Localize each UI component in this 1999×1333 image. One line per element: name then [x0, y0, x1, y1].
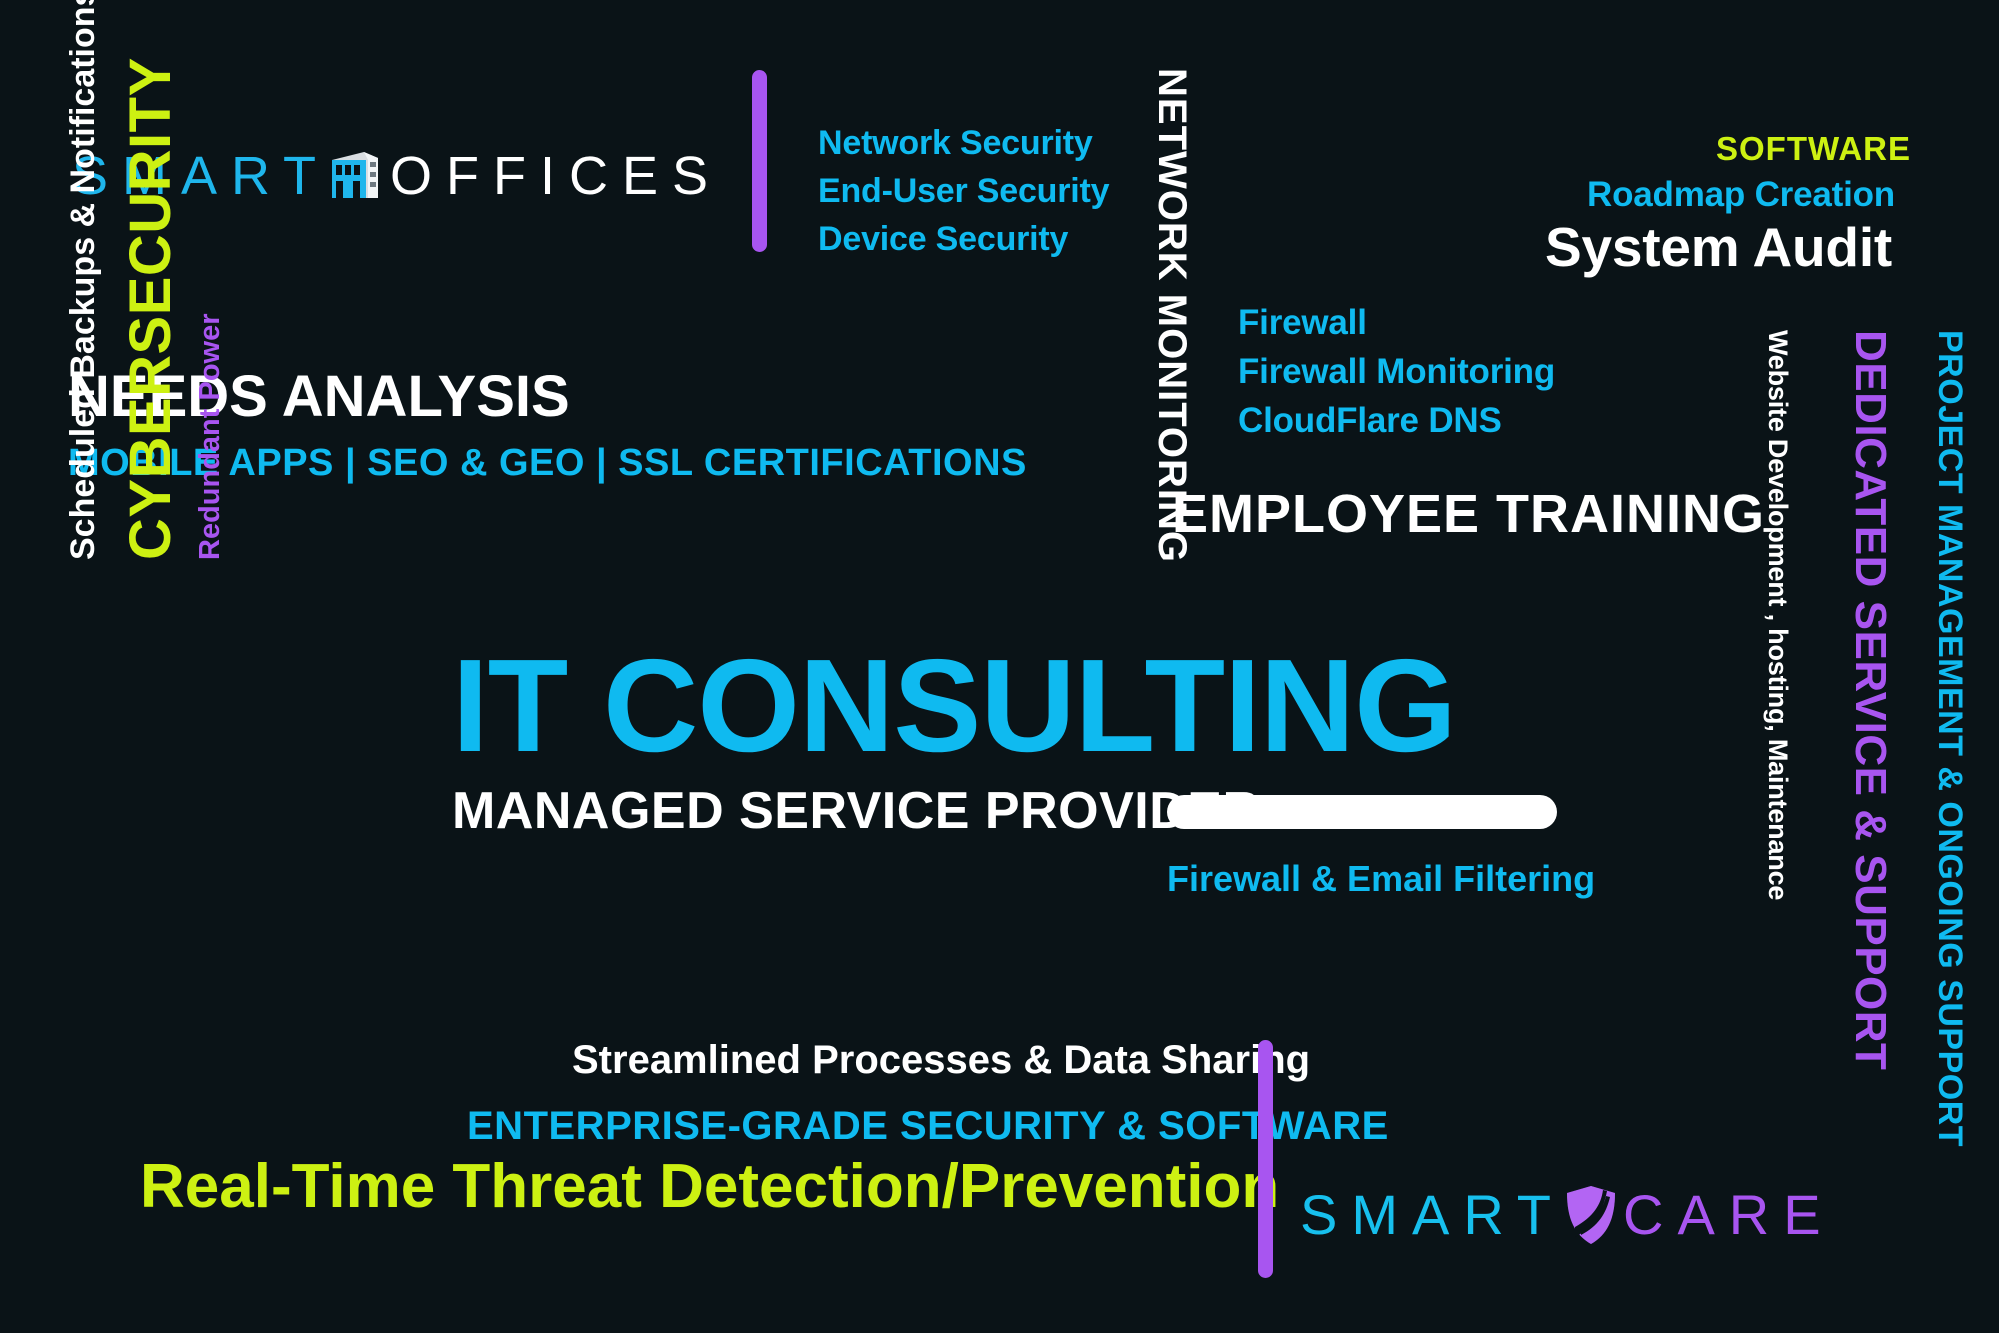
security-list-item: Network Security: [818, 126, 1109, 160]
scheduled-backups-vertical-label: Scheduled Backups & Notifications: [66, 0, 100, 560]
streamlined-processes-label: Streamlined Processes & Data Sharing: [572, 1040, 1310, 1080]
redundant-power-vertical-label: Redundant Power: [196, 313, 225, 560]
roadmap-creation-label: Roadmap Creation: [1587, 177, 1895, 212]
smart-care-logo: SMART CARE: [1300, 1183, 1835, 1247]
smart-care-word-care: CARE: [1623, 1187, 1835, 1243]
main-headline: IT CONSULTING: [452, 640, 1456, 772]
main-subheading: MANAGED SERVICE PROVIDER: [452, 785, 1261, 837]
dedicated-service-vertical-label: DEDICATED SERVICE & SUPPORT: [1848, 330, 1892, 1070]
divider-bar-bottom: [1258, 1040, 1273, 1278]
smart-offices-word-offices: OFFICES: [390, 149, 722, 203]
smart-offices-word-smart: SMART: [72, 149, 330, 203]
employee-training-heading: EMPLOYEE TRAINING: [1172, 487, 1765, 541]
firewall-email-filtering-caption: Firewall & Email Filtering: [1167, 861, 1595, 897]
project-management-vertical-label: PROJECT MANAGEMENT & ONGOING SUPPORT: [1933, 330, 1967, 1147]
security-list-item: End-User Security: [818, 174, 1109, 208]
firewall-list-item: CloudFlare DNS: [1238, 403, 1555, 438]
software-label: SOFTWARE: [1716, 132, 1911, 165]
firewall-list-item: Firewall Monitoring: [1238, 354, 1555, 389]
poster-canvas: SMART OFFICES Network Security End-User …: [0, 0, 1999, 1333]
enterprise-grade-label: ENTERPRISE-GRADE SECURITY & SOFTWARE: [467, 1106, 1389, 1146]
security-list-item: Device Security: [818, 222, 1109, 256]
firewall-list: Firewall Firewall Monitoring CloudFlare …: [1238, 305, 1555, 438]
highlight-bar: [1167, 795, 1557, 829]
security-list: Network Security End-User Security Devic…: [818, 126, 1109, 256]
building-icon: [324, 148, 386, 204]
smart-care-word-smart: SMART: [1300, 1187, 1565, 1243]
divider-bar-top: [752, 70, 767, 252]
website-development-vertical-label: Website Development , hosting, Maintenan…: [1764, 330, 1791, 900]
firewall-list-item: Firewall: [1238, 305, 1555, 340]
real-time-threat-label: Real-Time Threat Detection/Prevention: [140, 1156, 1279, 1218]
cybersecurity-vertical-label: CYBERSECURITY: [122, 57, 180, 560]
shield-icon: [1561, 1183, 1621, 1247]
system-audit-label: System Audit: [1545, 220, 1892, 275]
